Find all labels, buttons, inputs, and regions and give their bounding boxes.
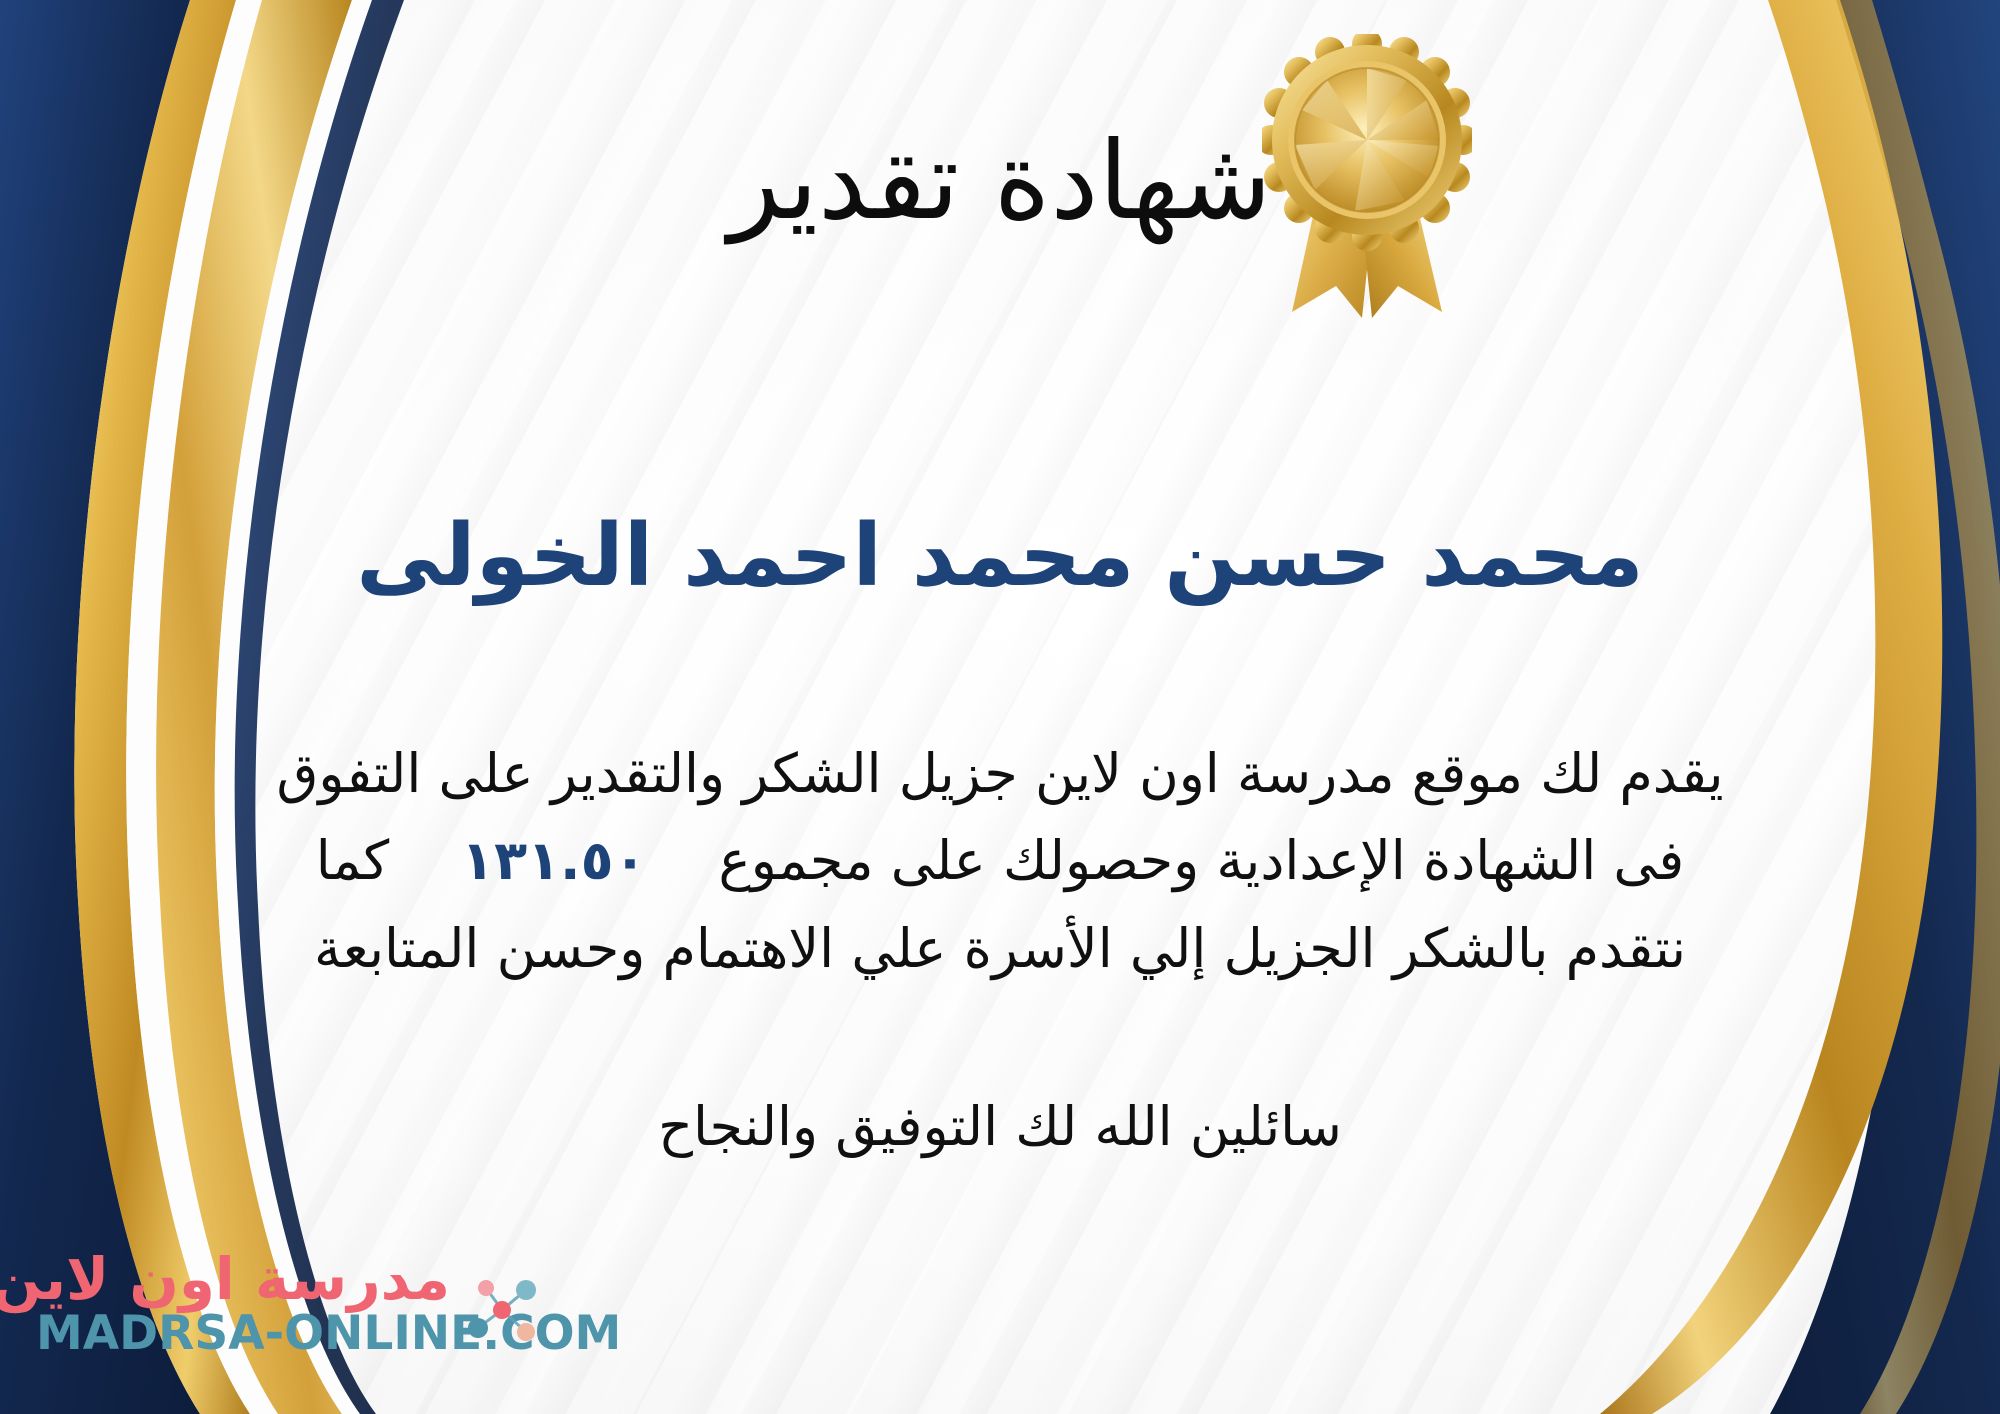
total-score: ١٣١.٥٠ (435, 829, 672, 892)
closing-wish: سائلين الله لك التوفيق والنجاح (0, 1095, 2000, 1158)
brand-website: MADRSA-ONLINE.COM (26, 1309, 456, 1358)
certificate-title: شهادة تقدير (0, 120, 2000, 244)
certificate-content: شهادة تقدير محمد حسن محمد احمد الخولى يق… (0, 0, 2000, 1414)
body-line-2-prefix: فى الشهادة الإعدادية وحصولك على مجموع (718, 829, 1684, 892)
certificate-canvas: شهادة تقدير محمد حسن محمد احمد الخولى يق… (0, 0, 2000, 1414)
recipient-name: محمد حسن محمد احمد الخولى (0, 505, 2000, 608)
certificate-body: يقدم لك موقع مدرسة اون لاين جزيل الشكر و… (60, 730, 1940, 992)
network-nodes-icon (456, 1266, 548, 1358)
body-line-1: يقدم لك موقع مدرسة اون لاين جزيل الشكر و… (60, 730, 1940, 817)
brand-logo[interactable]: مدرسة اون لاين MADRSA-ONLINE.COM (26, 1250, 456, 1380)
body-line-2: فى الشهادة الإعدادية وحصولك على مجموع١٣١… (60, 817, 1940, 904)
body-line-2-suffix: كما (316, 829, 389, 892)
body-line-3: نتقدم بالشكر الجزيل إلي الأسرة علي الاهت… (60, 905, 1940, 992)
brand-name-arabic: مدرسة اون لاين (26, 1250, 456, 1309)
